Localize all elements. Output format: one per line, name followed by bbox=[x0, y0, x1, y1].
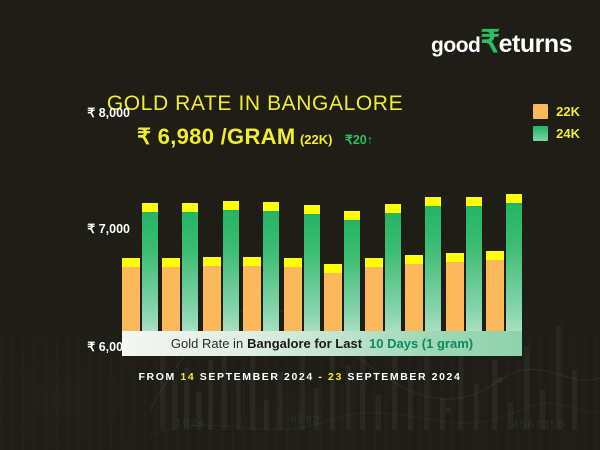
price-change-badge: ₹20↑ bbox=[345, 133, 373, 147]
bar-cap bbox=[486, 251, 504, 260]
bar-22k bbox=[243, 257, 261, 338]
bar-24k bbox=[506, 194, 522, 338]
bar-cap bbox=[324, 264, 342, 273]
bar-cap bbox=[446, 253, 464, 262]
bar-cap bbox=[182, 203, 198, 212]
date-range-end-day: 23 bbox=[328, 371, 343, 383]
bar-cap bbox=[162, 258, 180, 267]
background-number: 1024 bbox=[175, 418, 205, 430]
bar-22k bbox=[405, 255, 423, 338]
bar-22k bbox=[365, 258, 383, 338]
bar-group bbox=[446, 160, 482, 338]
rupee-icon: ₹ bbox=[480, 26, 499, 57]
legend-item-22k: 22K bbox=[533, 104, 580, 119]
legend-item-24k: 24K bbox=[533, 126, 580, 141]
legend-label-22k: 22K bbox=[556, 104, 580, 119]
bar-22k bbox=[324, 264, 342, 338]
bar-cap bbox=[203, 257, 221, 266]
gold-rate-infographic: 1024 0502 4567356 good₹eturns GOLD RATE … bbox=[0, 0, 600, 450]
bar-cap bbox=[122, 258, 140, 267]
bar-cap bbox=[263, 202, 279, 211]
bar-group bbox=[405, 160, 441, 338]
bar-cap bbox=[243, 257, 261, 266]
bar-cap bbox=[142, 203, 158, 212]
bar-24k bbox=[466, 197, 482, 338]
chart-caption-bar: Gold Rate in Bangalore for Last 10 Days … bbox=[122, 331, 522, 356]
bar-cap bbox=[405, 255, 423, 264]
y-axis-label-8000: ₹ 8,000 bbox=[87, 105, 130, 120]
legend-swatch-24k bbox=[533, 126, 548, 141]
date-range-separator: - bbox=[318, 371, 323, 383]
bar-22k bbox=[162, 258, 180, 338]
legend-swatch-22k bbox=[533, 104, 548, 119]
legend-label-24k: 24K bbox=[556, 126, 580, 141]
bar-cap bbox=[344, 211, 360, 220]
bar-22k bbox=[122, 258, 140, 338]
caption-part-1: Gold Rate in bbox=[171, 336, 243, 351]
bar-group bbox=[324, 160, 360, 338]
bar-24k bbox=[263, 202, 279, 338]
bar-24k bbox=[182, 203, 198, 338]
bar-cap bbox=[284, 258, 302, 267]
bar-22k bbox=[446, 253, 464, 338]
bar-cap bbox=[506, 194, 522, 203]
bar-group bbox=[122, 160, 158, 338]
chart-legend: 22K 24K bbox=[533, 104, 580, 148]
bar-24k bbox=[385, 204, 401, 338]
goodreturns-logo[interactable]: good₹eturns bbox=[431, 26, 572, 59]
bar-group bbox=[162, 160, 198, 338]
date-range-start-rest: SEPTEMBER 2024 bbox=[200, 371, 314, 383]
price-value: ₹ 6,980 /GRAM bbox=[137, 124, 296, 149]
bar-cap bbox=[466, 197, 482, 206]
bar-group bbox=[486, 160, 522, 338]
date-range-end-rest: SEPTEMBER 2024 bbox=[347, 371, 461, 383]
bar-22k bbox=[284, 258, 302, 338]
bar-24k bbox=[425, 197, 441, 338]
logo-text-good: good bbox=[431, 34, 480, 58]
bar-group bbox=[365, 160, 401, 338]
date-range-start-day: 14 bbox=[180, 371, 195, 383]
bar-cap bbox=[365, 258, 383, 267]
background-number: 0502 bbox=[290, 415, 320, 427]
bar-24k bbox=[142, 203, 158, 338]
background-number: 4567356 bbox=[512, 420, 565, 432]
price-karat: (22K) bbox=[300, 132, 333, 147]
caption-part-3: 10 Days (1 gram) bbox=[369, 336, 473, 351]
date-range-prefix: FROM bbox=[139, 371, 176, 383]
bar-chart-plot-area bbox=[122, 160, 522, 338]
bar-group bbox=[284, 160, 320, 338]
bar-22k bbox=[486, 251, 504, 338]
caption-part-2: Bangalore for Last bbox=[247, 336, 362, 351]
bar-group bbox=[203, 160, 239, 338]
bar-24k bbox=[223, 201, 239, 338]
bar-cap bbox=[223, 201, 239, 210]
bar-24k bbox=[344, 211, 360, 338]
bar-24k bbox=[304, 205, 320, 338]
bar-group bbox=[243, 160, 279, 338]
bar-22k bbox=[203, 257, 221, 338]
date-range: FROM 14 SEPTEMBER 2024 - 23 SEPTEMBER 20… bbox=[0, 371, 600, 383]
bar-cap bbox=[385, 204, 401, 213]
logo-text-eturns: eturns bbox=[499, 30, 572, 59]
bar-cap bbox=[425, 197, 441, 206]
bar-cap bbox=[304, 205, 320, 214]
